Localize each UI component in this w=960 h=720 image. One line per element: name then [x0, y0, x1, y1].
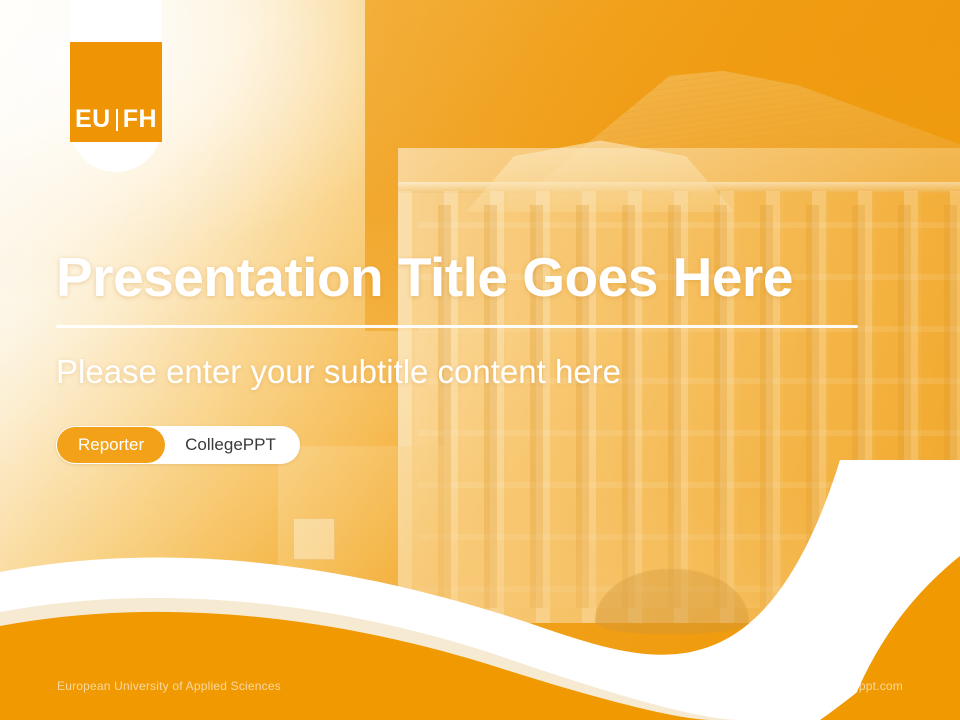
logo-text-eu: EU — [75, 105, 111, 133]
eufh-logo: EUFH — [70, 0, 162, 172]
logo-orange-square: EUFH — [70, 42, 162, 142]
logo-divider-bar — [116, 109, 118, 131]
presentation-slide: EUFH Presentation Title Goes Here Please… — [0, 0, 960, 720]
reporter-pill[interactable]: Reporter CollegePPT — [56, 426, 300, 464]
page-subtitle: Please enter your subtitle content here — [56, 352, 621, 392]
footer-website[interactable]: www.collegeppt.com — [790, 679, 903, 693]
logo-text-fh: FH — [123, 105, 157, 133]
logo-wordmark: EUFH — [70, 107, 162, 132]
reporter-label: Reporter — [57, 427, 165, 463]
reporter-value[interactable]: CollegePPT — [165, 426, 300, 464]
footer-organization: European University of Applied Sciences — [57, 679, 281, 693]
title-divider — [56, 325, 858, 328]
page-title: Presentation Title Goes Here — [56, 247, 896, 308]
